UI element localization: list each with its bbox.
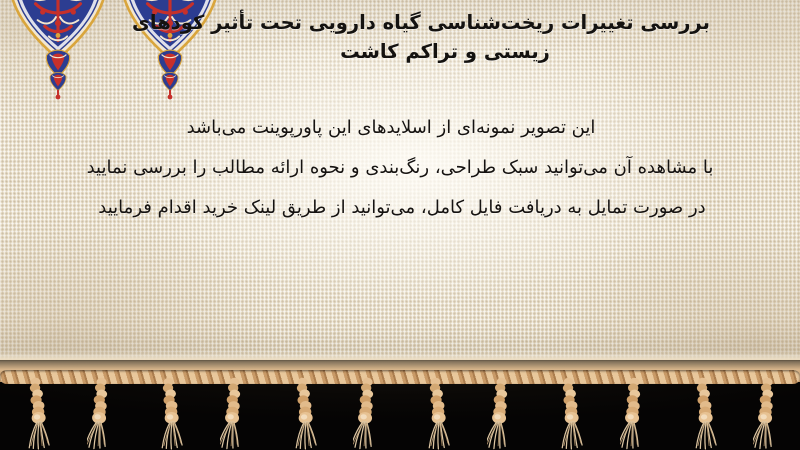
fringe-tassel [487,376,517,450]
fringe-tassel [87,376,117,450]
fringe-tassel [687,376,717,450]
fringe-tassel [220,376,250,450]
carpet-fringe-rope [0,370,800,384]
title-line-2: زیستی و تراکم کاشت [150,37,740,66]
body-line-2: با مشاهده آن می‌توانید سبک طراحی، رنگ‌بن… [40,148,760,188]
title-line-1: بررسی تغییرات ریخت‌شناسی گیاه دارویی تحت… [150,8,710,37]
slide-body: این تصویر نمونه‌ای از اسلایدهای این پاور… [40,108,760,228]
slide-title: بررسی تغییرات ریخت‌شناسی گیاه دارویی تحت… [150,8,710,67]
fringe-tassel [620,376,650,450]
fringe-tassel [420,376,450,450]
fringe-tassel [753,376,783,450]
fringe-tassel [353,376,383,450]
slide-canvas: بررسی تغییرات ریخت‌شناسی گیاه دارویی تحت… [0,0,800,450]
body-line-1: این تصویر نمونه‌ای از اسلایدهای این پاور… [40,108,742,148]
fringe-tassel [287,376,317,450]
fringe-tassel [20,376,50,450]
fringe-tassel [553,376,583,450]
fringe-tassel [153,376,183,450]
body-line-3: در صورت تمایل به دریافت فایل کامل، می‌تو… [40,188,764,228]
